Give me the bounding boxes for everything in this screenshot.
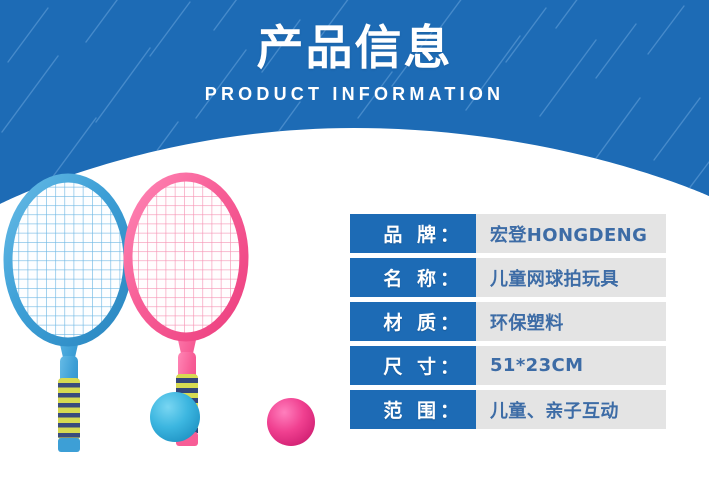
spec-value-name: 儿童网球拍玩具 bbox=[476, 258, 666, 297]
product-illustration bbox=[0, 150, 340, 470]
table-row: 名 称： 儿童网球拍玩具 bbox=[350, 258, 666, 297]
page-title: 产品信息 bbox=[0, 22, 709, 76]
spec-label-name: 名 称： bbox=[350, 258, 476, 297]
product-information-page: 产品信息 PRODUCT INFORMATION bbox=[0, 0, 709, 486]
spec-label-size: 尺 寸： bbox=[350, 346, 476, 385]
blue-racket-grip bbox=[58, 378, 80, 452]
spec-value-size: 51*23CM bbox=[476, 346, 666, 385]
spec-label-scope: 范 围： bbox=[350, 390, 476, 429]
spec-label-material: 材 质： bbox=[350, 302, 476, 341]
spec-value-material: 环保塑料 bbox=[476, 302, 666, 341]
table-row: 材 质： 环保塑料 bbox=[350, 302, 666, 341]
table-row: 尺 寸： 51*23CM bbox=[350, 346, 666, 385]
spec-value-scope: 儿童、亲子互动 bbox=[476, 390, 666, 429]
spec-table: 品 牌： 宏登HONGDENG 名 称： 儿童网球拍玩具 材 质： 环保塑料 尺… bbox=[350, 214, 666, 434]
table-row: 品 牌： 宏登HONGDENG bbox=[350, 214, 666, 253]
spec-label-brand: 品 牌： bbox=[350, 214, 476, 253]
table-row: 范 围： 儿童、亲子互动 bbox=[350, 390, 666, 429]
pink-ball bbox=[267, 398, 315, 446]
page-subtitle: PRODUCT INFORMATION bbox=[0, 84, 709, 105]
blue-ball bbox=[150, 392, 200, 442]
blue-racket bbox=[8, 178, 132, 452]
spec-value-brand: 宏登HONGDENG bbox=[476, 214, 666, 253]
